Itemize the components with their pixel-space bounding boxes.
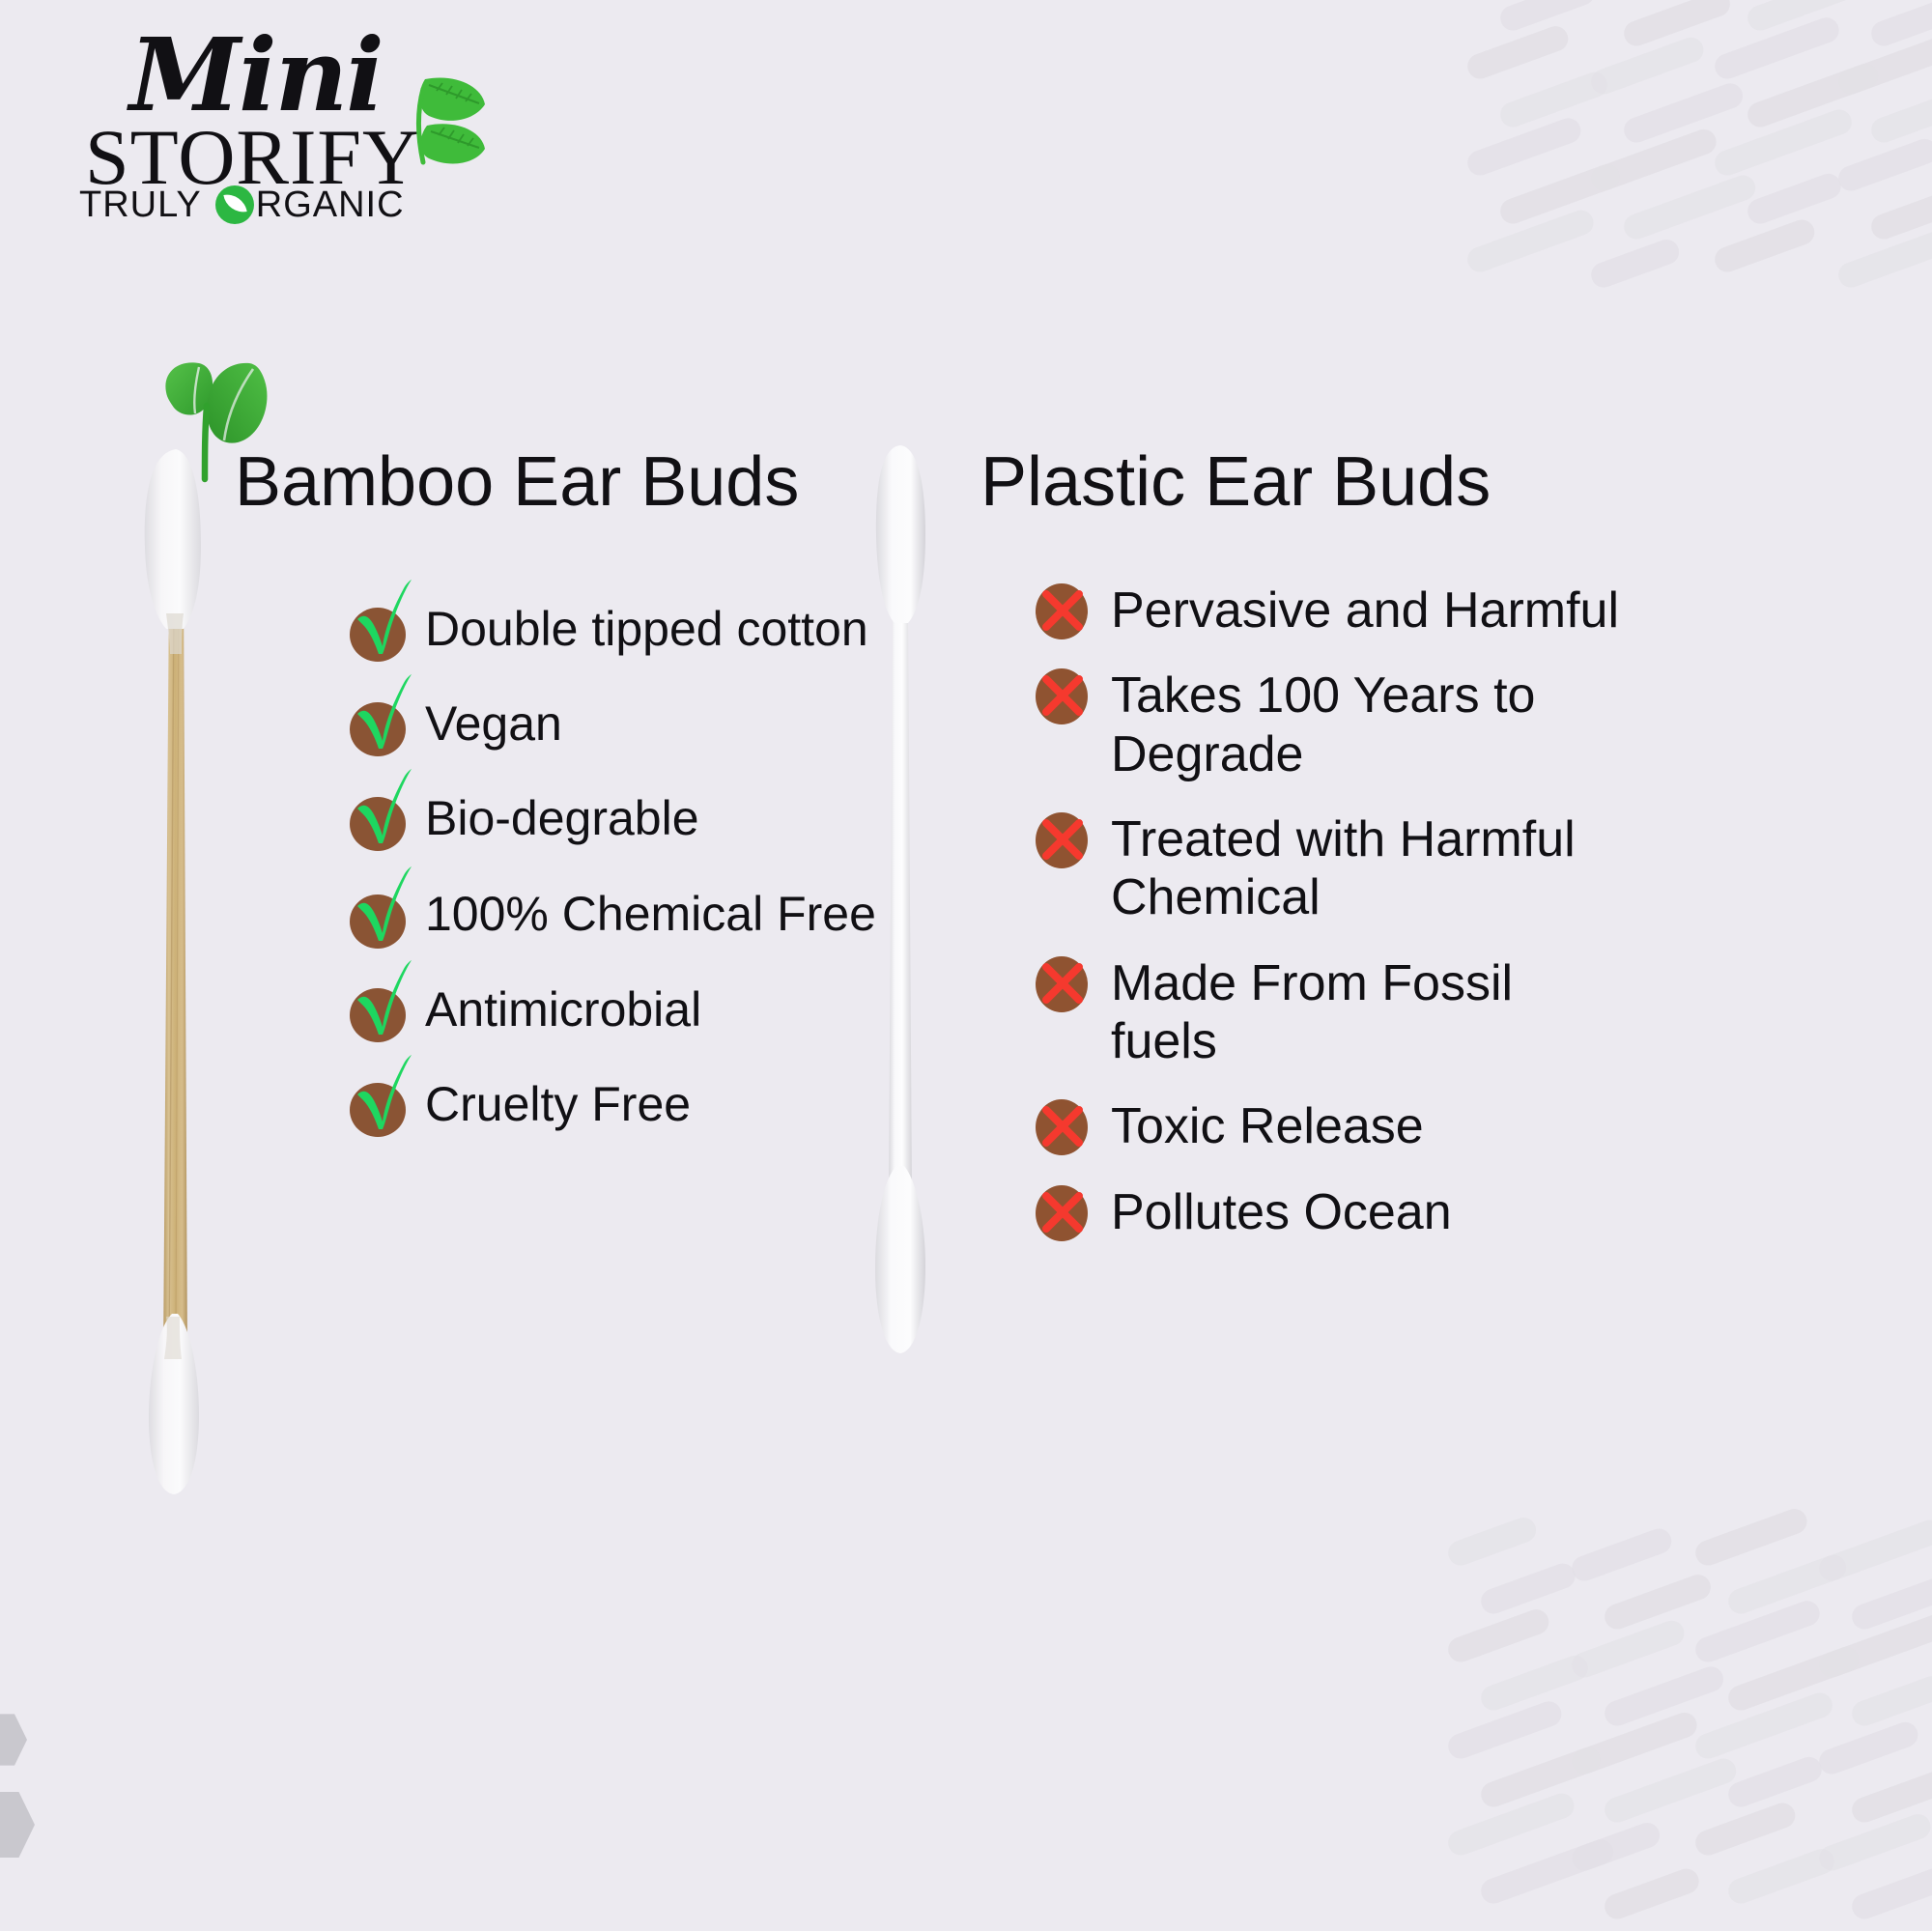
decor-dash	[1816, 1718, 1921, 1777]
list-item-label: Pollutes Ocean	[1111, 1181, 1452, 1241]
decor-dash	[1868, 182, 1932, 242]
diagonal-dash-pattern-bottom-right	[1468, 1545, 1932, 1931]
list-item-label: 100% Chemical Free	[425, 884, 876, 942]
decor-dash	[1816, 1608, 1932, 1681]
decor-dash	[1464, 115, 1584, 180]
decor-dash	[1588, 34, 1708, 98]
check-icon	[346, 600, 410, 656]
list-item: 100% Chemical Free	[346, 883, 887, 943]
cross-icon	[1032, 665, 1095, 721]
cross-icon	[1032, 580, 1095, 636]
decor-dash	[1712, 106, 1856, 179]
list-item: Made From Fossil fuels	[1032, 952, 1631, 1071]
list-item: Treated with Harmful Chemical	[1032, 809, 1631, 927]
decor-dash	[1712, 14, 1843, 83]
decor-dash	[1621, 80, 1747, 147]
decor-dash	[1745, 170, 1845, 227]
decor-dash	[1849, 1673, 1932, 1730]
decor-dash	[1725, 1551, 1850, 1617]
list-item-label: Toxic Release	[1111, 1095, 1424, 1155]
check-icon	[346, 887, 410, 943]
decor-dash	[1835, 25, 1932, 98]
decor-dash	[1588, 236, 1683, 291]
list-item: Toxic Release	[1032, 1095, 1631, 1155]
list-item-label: Bio-degrable	[425, 788, 699, 846]
list-item: Pervasive and Harmful	[1032, 580, 1631, 639]
cross-icon	[1032, 1181, 1095, 1237]
decor-dash	[1497, 69, 1611, 130]
hexagon-decor-icon	[0, 1712, 27, 1768]
decor-dash	[1725, 1845, 1838, 1907]
list-item: Antimicrobial	[346, 980, 887, 1037]
cross-icon	[1032, 1095, 1095, 1151]
decor-dash	[1692, 1690, 1836, 1762]
decor-dash	[1725, 1643, 1862, 1714]
list-item: Double tipped cotton	[346, 599, 887, 657]
decor-dash	[1602, 1571, 1715, 1633]
decor-dash	[1692, 1800, 1799, 1859]
check-icon	[346, 695, 410, 751]
brand-tagline-organic: RGANIC	[256, 186, 405, 223]
decor-dash	[1745, 0, 1869, 34]
decor-dash	[1445, 1698, 1565, 1763]
decor-dash	[1464, 23, 1572, 83]
decor-dash	[1816, 1517, 1932, 1584]
brand-name-script: Mini	[129, 25, 383, 126]
decor-dash	[1464, 207, 1598, 275]
cross-icon	[1032, 952, 1095, 1008]
decor-dash	[1602, 1755, 1740, 1826]
plastic-drawback-list: Pervasive and Harmful Takes 100 Years to…	[1032, 580, 1631, 1266]
brand-tagline-truly: TRULY	[79, 186, 202, 223]
decor-dash	[1445, 1606, 1552, 1666]
list-item: Bio-degrable	[346, 788, 887, 846]
decor-dash	[1868, 0, 1932, 49]
decor-dash	[1849, 1765, 1932, 1826]
decor-dash	[1849, 1857, 1932, 1922]
decor-dash	[1712, 216, 1818, 275]
list-item: Takes 100 Years to Degrade	[1032, 665, 1631, 783]
decor-dash	[1569, 1525, 1675, 1584]
list-item: Vegan	[346, 694, 887, 752]
decor-dash	[1602, 1663, 1727, 1730]
list-item-label: Cruelty Free	[425, 1074, 691, 1132]
cross-icon	[1032, 809, 1095, 865]
list-item-label: Treated with Harmful Chemical	[1111, 809, 1631, 927]
decor-dash	[1478, 1744, 1605, 1810]
decor-dash	[1816, 1810, 1932, 1874]
decor-dash	[1569, 1709, 1701, 1777]
list-item-label: Vegan	[425, 694, 562, 752]
decor-dash	[1445, 1790, 1578, 1859]
list-item-label: Made From Fossil fuels	[1111, 952, 1631, 1071]
decor-dash	[1621, 0, 1734, 49]
list-item-label: Pervasive and Harmful	[1111, 580, 1619, 639]
decor-dash	[1835, 227, 1932, 291]
leaf-badge-icon	[215, 185, 254, 224]
column-title-plastic: Plastic Ear Buds	[980, 447, 1491, 517]
brand-tagline: TRULY RGANIC	[79, 185, 405, 224]
decor-dash	[1849, 1563, 1932, 1633]
bamboo-ear-bud-image	[124, 440, 230, 1502]
decor-dash	[1692, 1505, 1811, 1569]
decor-dash	[1725, 1753, 1826, 1810]
infographic-canvas: Mini STORIFY TRULY RGANIC	[0, 0, 1932, 1931]
check-icon	[346, 789, 410, 845]
decor-dash	[1478, 1652, 1592, 1714]
decor-dash	[1497, 160, 1624, 227]
list-item-label: Antimicrobial	[425, 980, 701, 1037]
decor-dash	[1868, 90, 1932, 147]
decor-dash	[1478, 1836, 1617, 1908]
diagonal-dash-pattern-top-right	[1488, 0, 1932, 290]
decor-dash	[1692, 1598, 1824, 1666]
decor-dash	[1478, 1560, 1579, 1617]
decor-dash	[1497, 0, 1599, 34]
check-icon	[346, 980, 410, 1036]
decor-dash	[1835, 0, 1932, 1]
decor-dash	[1569, 1819, 1663, 1874]
decor-dash	[1602, 1865, 1703, 1922]
brand-logo: Mini STORIFY TRULY RGANIC	[79, 25, 495, 218]
bamboo-feature-list: Double tipped cotton Vegan Bio-degrable …	[346, 599, 887, 1169]
decor-dash	[1835, 135, 1932, 194]
list-item: Cruelty Free	[346, 1074, 887, 1132]
list-item: Pollutes Ocean	[1032, 1181, 1631, 1241]
list-item-label: Double tipped cotton	[425, 599, 868, 657]
leaf-icon	[361, 71, 487, 178]
decor-dash	[1588, 0, 1694, 1]
decor-dash	[1745, 60, 1882, 130]
column-title-bamboo: Bamboo Ear Buds	[235, 447, 799, 517]
check-icon	[346, 1075, 410, 1131]
decor-dash	[1445, 1514, 1540, 1569]
decor-dash	[1588, 126, 1720, 194]
decor-dash	[1569, 1617, 1689, 1681]
decor-dash	[1621, 172, 1759, 242]
list-item-label: Takes 100 Years to Degrade	[1111, 665, 1631, 783]
hexagon-decor-icon	[0, 1789, 35, 1860]
